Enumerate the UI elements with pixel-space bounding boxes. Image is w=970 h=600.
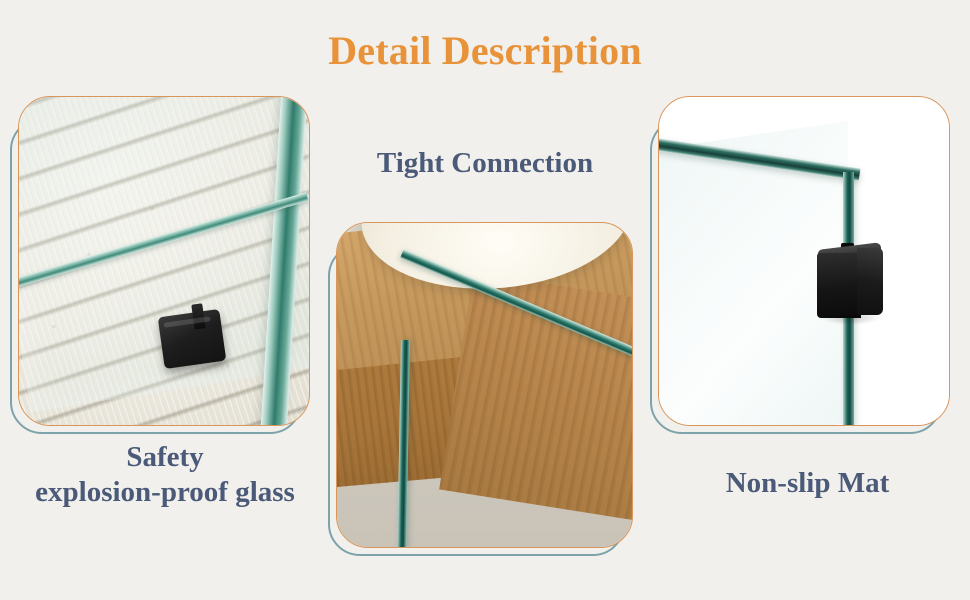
detail-description-page: Detail Description Safety explosion-proo…: [0, 0, 970, 600]
photo-tight-connection: [336, 222, 633, 548]
cap-front-face: [817, 253, 861, 318]
caption-safety-glass: Safety explosion-proof glass: [0, 440, 330, 511]
non-slip-cap: [817, 246, 883, 318]
photo-non-slip-mat: [658, 96, 950, 426]
cap-side-face: [857, 248, 883, 314]
panel-safety-glass: [18, 96, 310, 426]
page-title: Detail Description: [0, 28, 970, 74]
panel-non-slip-mat: [658, 96, 950, 426]
photo-safety-glass: [18, 96, 310, 426]
caption-non-slip-mat: Non-slip Mat: [645, 466, 970, 501]
caption-tight-connection: Tight Connection: [320, 146, 650, 181]
panel-tight-connection: [336, 222, 633, 548]
rubber-clip: [158, 309, 227, 369]
